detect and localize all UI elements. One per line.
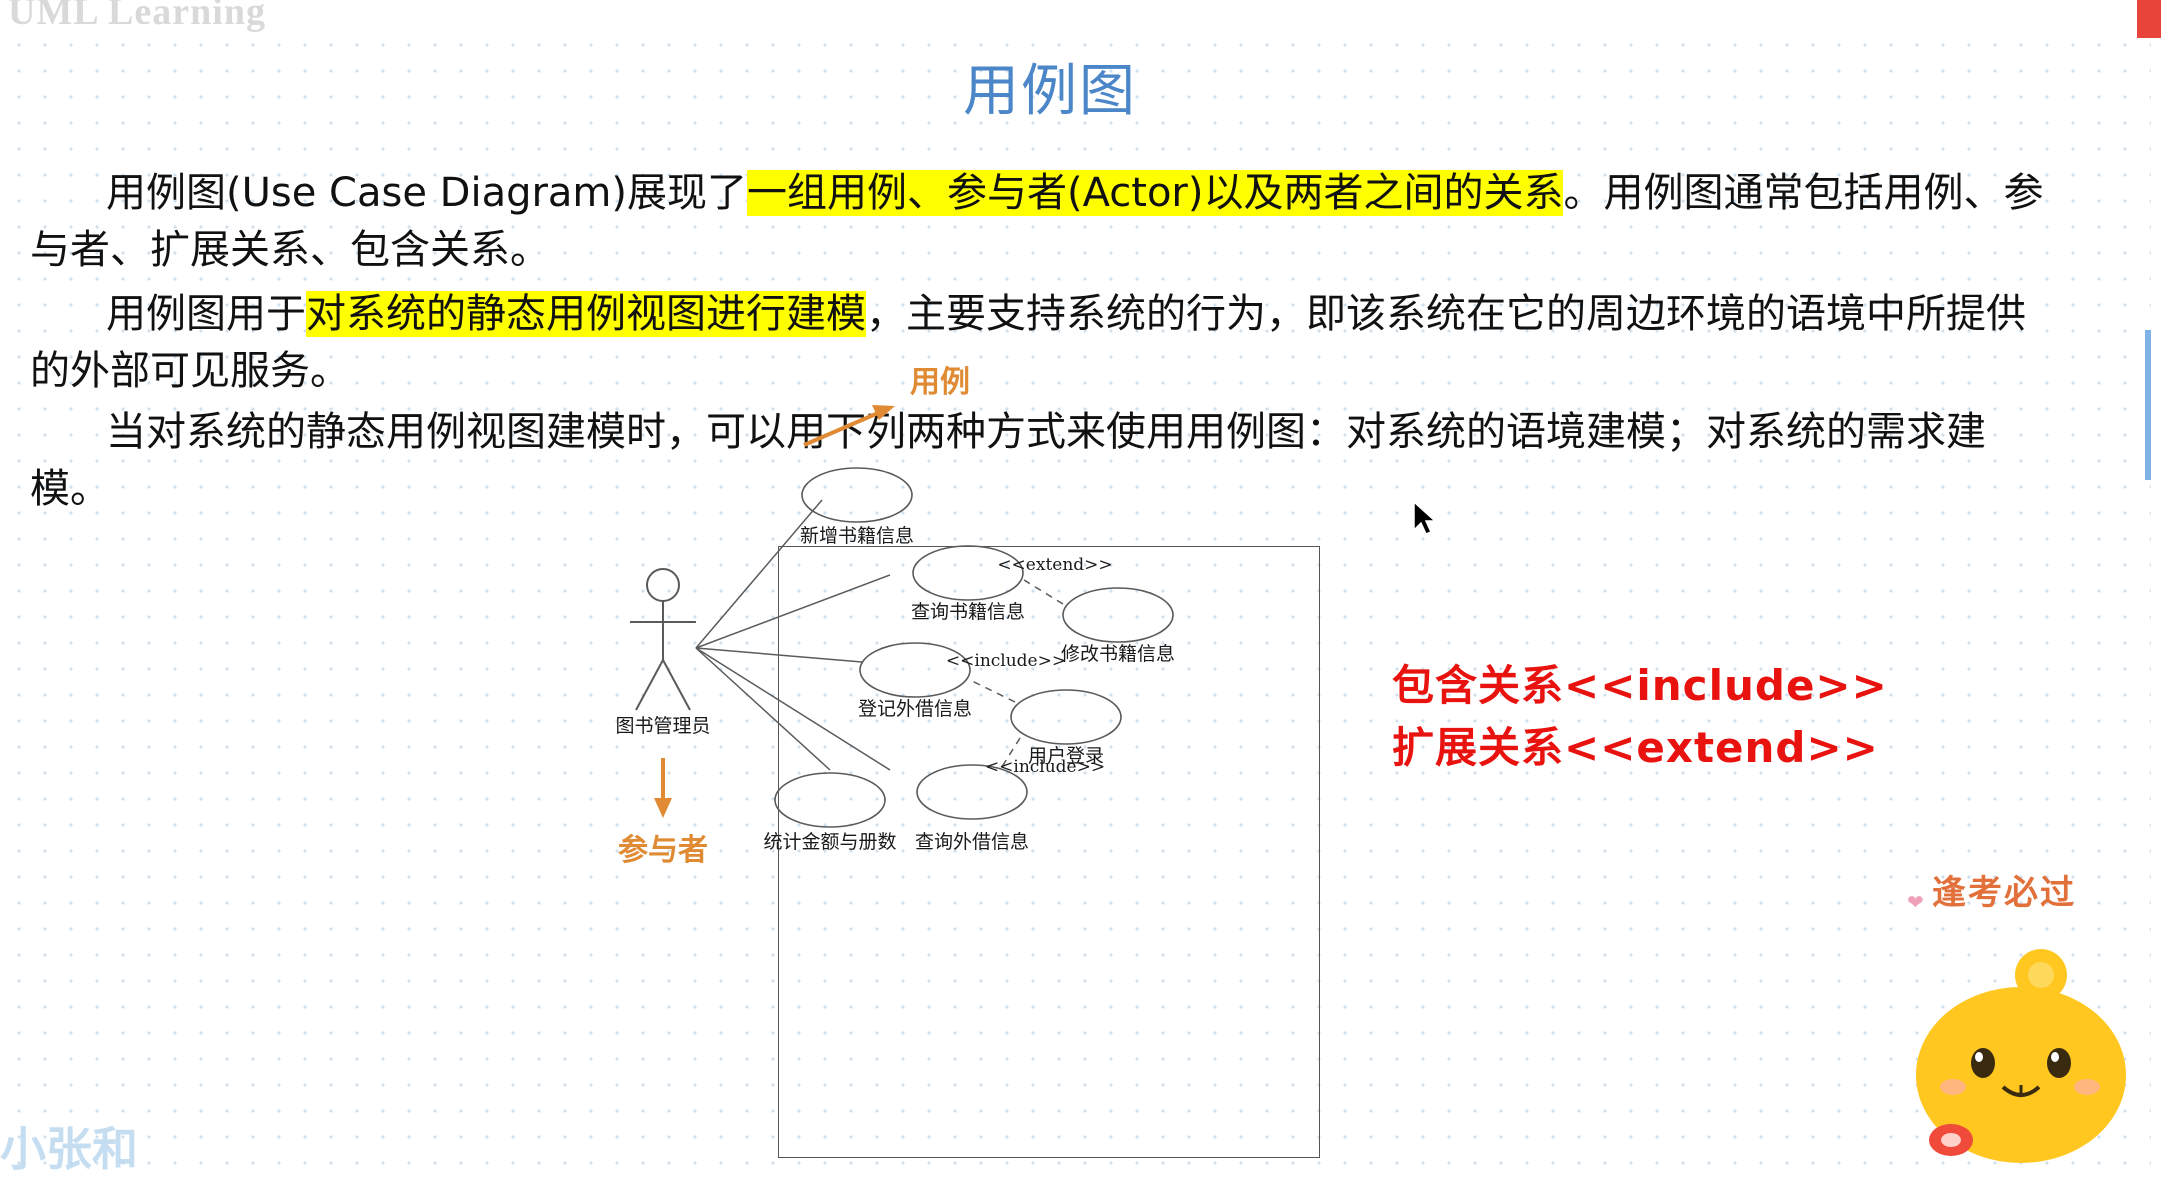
paragraph-2: 用例图用于对系统的静态用例视图进行建模，主要支持系统的行为，即该系统在它的周边环… [30,286,2060,400]
slogan-text: 逢考必过 [1932,865,2076,914]
extend-stereotype-label: <<extend>> [997,555,1112,575]
use-case-label-6: 统计金额与册数 [763,831,896,853]
extend-relation-line [1024,580,1063,604]
use-case-label-4: 登记外借信息 [858,698,972,720]
actor-callout-arrow [654,758,672,818]
right-scroll-indicator[interactable] [2145,330,2151,480]
include-relation-line-1 [970,680,1015,702]
page-title: 用例图 [0,46,2100,127]
use-case-ellipse-6 [775,773,885,827]
include-stereotype-label-2: <<include>> [985,757,1105,777]
use-case-label-1: 新增书籍信息 [800,525,914,547]
p1-run-1: 用例图(Use Case Diagram)展现了 [106,170,747,216]
heart-icon: ❤ [1907,890,1923,906]
use-case-label-3: 修改书籍信息 [1061,643,1175,665]
p1-run-2-highlighted: 一组用例、参与者(Actor)以及两者之间的关系 [747,170,1563,216]
include-note: 包含关系<<include>> [1392,655,1888,717]
p2-run-1: 用例图用于 [106,291,306,337]
actor-callout-label: 参与者 [618,833,708,868]
use-case-ellipse-3 [1063,588,1173,642]
right-edge-strip [2151,38,2161,1165]
actor-figure [630,569,696,710]
use-case-ellipse-1 [802,468,912,522]
mascot-icon [1891,935,2151,1165]
actor-label: 图书管理员 [615,715,710,737]
top-watermark: UML Learning [8,0,266,34]
paragraph-1: 用例图(Use Case Diagram)展现了一组用例、参与者(Actor)以… [30,165,2060,279]
top-right-badge [2137,0,2161,38]
extend-note: 扩展关系<<extend>> [1392,717,1888,779]
use-case-ellipse-5 [1011,690,1121,744]
p2-run-2-highlighted: 对系统的静态用例视图进行建模 [306,291,866,337]
use-case-diagram: 图书管理员 新增书籍信息 查询书籍信息 修改书籍信息 登记外借信息 用户登录 统… [600,470,1360,1170]
use-case-label-7: 查询外借信息 [915,831,1029,853]
include-stereotype-label-1: <<include>> [946,651,1066,671]
bottom-watermark: 小张和 [0,1113,138,1179]
top-bar: UML Learning [0,0,2161,38]
use-case-label-2: 查询书籍信息 [911,601,1025,623]
relationship-notes: 包含关系<<include>> 扩展关系<<extend>> [1392,655,1888,779]
use-case-callout-label: 用例 [910,365,970,400]
mouse-cursor-icon [1412,500,1438,538]
